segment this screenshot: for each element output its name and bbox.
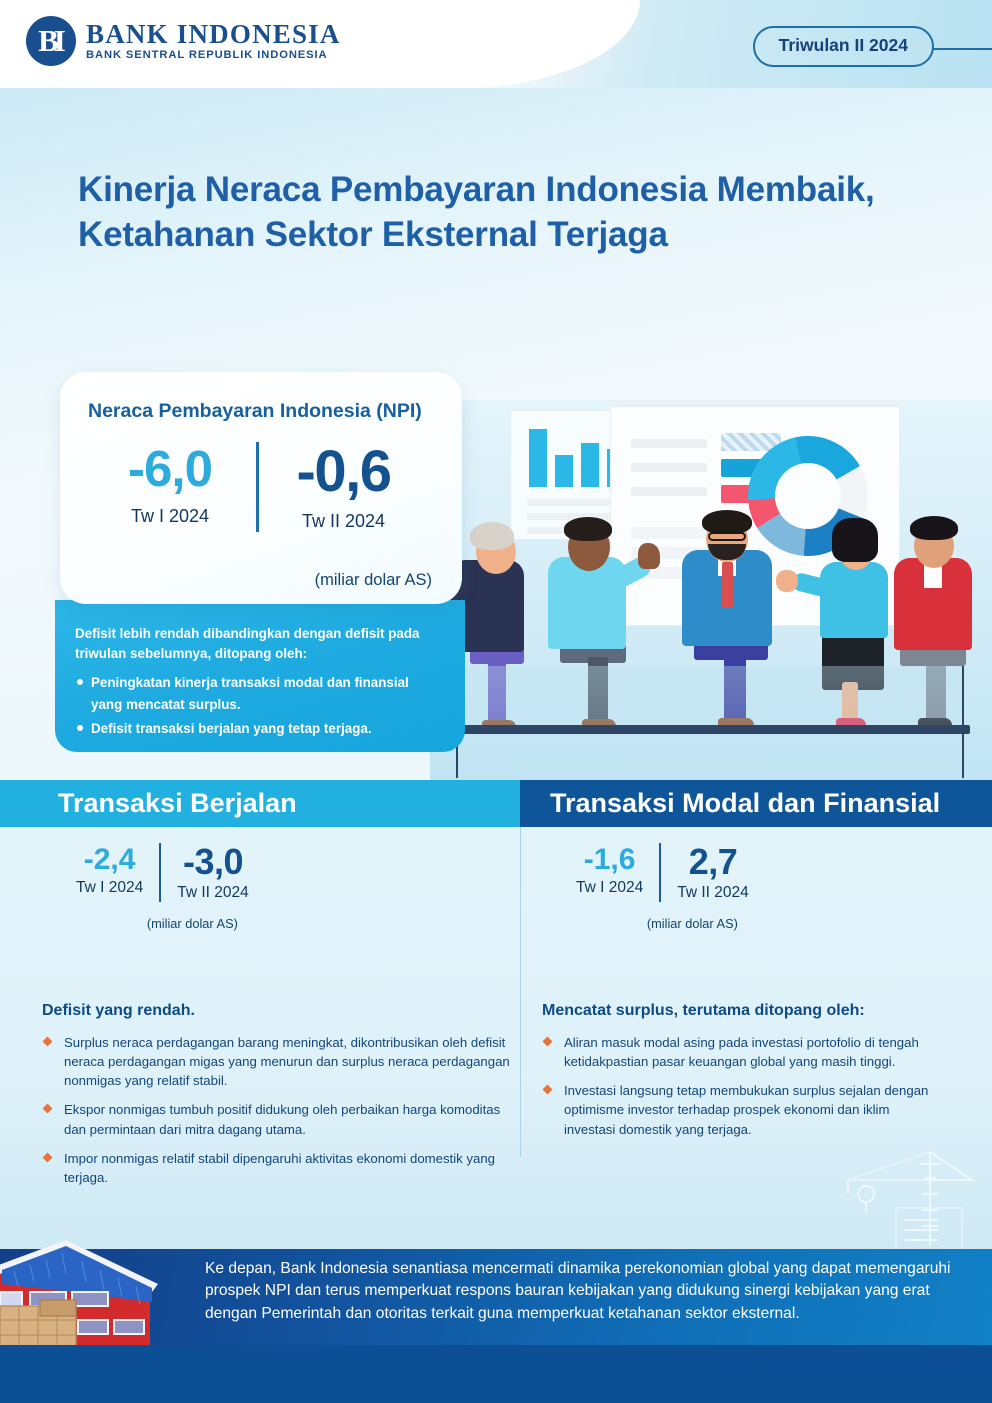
- stat-previous-value: -1,6: [576, 843, 643, 876]
- stat-current-value: 2,7: [677, 843, 749, 881]
- person-2-hair: [564, 517, 612, 541]
- board-row-line: [631, 487, 707, 496]
- board-row-line: [631, 463, 707, 472]
- column-divider: [520, 827, 521, 1157]
- section-heading-label: Transaksi Berjalan: [58, 788, 297, 819]
- person-3-glasses: [708, 532, 746, 541]
- body-transaksi-modal-finansial: Mencatat surplus, terutama ditopang oleh…: [542, 1002, 942, 1149]
- cardboard-boxes: [0, 1300, 76, 1350]
- poster-bar-1: [529, 429, 547, 487]
- stat-current-value: -3,0: [177, 843, 249, 881]
- npi-current-label: Tw II 2024: [259, 511, 428, 532]
- board-row-line: [631, 439, 707, 448]
- stat-current-label: Tw II 2024: [677, 884, 749, 902]
- stat-unit-label: (miliar dolar AS): [620, 916, 765, 931]
- list-item: Surplus neraca perdagangan barang mening…: [42, 1033, 512, 1090]
- body-bullet-list: Surplus neraca perdagangan barang mening…: [42, 1033, 512, 1187]
- page-title: Kinerja Neraca Pembayaran Indonesia Memb…: [78, 168, 928, 258]
- npi-values-row: -6,0 Tw I 2024 -0,6 Tw II 2024: [84, 442, 444, 532]
- stat-previous-quarter: -1,6 Tw I 2024: [560, 843, 659, 902]
- bank-indonesia-logo: BI BANK INDONESIA BANK SENTRAL REPUBLIK …: [26, 16, 341, 66]
- stat-unit-label: (miliar dolar AS): [120, 916, 265, 931]
- poster-bar-2: [555, 455, 573, 487]
- list-item: Peningkatan kinerja transaksi modal dan …: [75, 672, 441, 715]
- stat-previous-quarter: -2,4 Tw I 2024: [60, 843, 159, 902]
- section-header-transaksi-berjalan: Transaksi Berjalan: [0, 780, 520, 827]
- body-heading: Defisit yang rendah.: [42, 1002, 512, 1020]
- person-3-tie: [722, 562, 733, 608]
- stat-values-row: -1,6 Tw I 2024 2,7 Tw II 2024: [560, 843, 765, 902]
- stat-current-quarter: -3,0 Tw II 2024: [159, 843, 265, 902]
- infographic-page: BI BANK INDONESIA BANK SENTRAL REPUBLIK …: [0, 0, 992, 1403]
- outlook-banner-text: Ke depan, Bank Indonesia senantiasa menc…: [205, 1258, 975, 1325]
- npi-previous-quarter: -6,0 Tw I 2024: [84, 442, 256, 532]
- stats-transaksi-berjalan: -2,4 Tw I 2024 -3,0 Tw II 2024 (miliar d…: [60, 843, 500, 953]
- person-1-hair: [470, 522, 514, 550]
- person-1-arm: [500, 576, 522, 628]
- npi-summary-card: Neraca Pembayaran Indonesia (NPI) -6,0 T…: [60, 372, 462, 604]
- section-heading-label: Transaksi Modal dan Finansial: [550, 788, 940, 819]
- list-item: Aliran masuk modal asing pada investasi …: [542, 1033, 942, 1071]
- person-3-hair: [702, 510, 752, 534]
- glass-table-top: [450, 725, 970, 734]
- construction-crane-icon: [812, 1138, 982, 1258]
- stat-current-quarter: 2,7 Tw II 2024: [659, 843, 765, 902]
- person-5-hair: [910, 516, 958, 540]
- npi-card-title: Neraca Pembayaran Indonesia (NPI): [88, 400, 422, 423]
- npi-previous-value: -6,0: [84, 442, 256, 496]
- body-heading: Mencatat surplus, terutama ditopang oleh…: [542, 1002, 942, 1020]
- npi-explanation-lead: Defisit lebih rendah dibandingkan dengan…: [75, 624, 441, 663]
- body-transaksi-berjalan: Defisit yang rendah. Surplus neraca perd…: [42, 1002, 512, 1197]
- stat-previous-label: Tw I 2024: [576, 879, 643, 897]
- person-4-hair: [832, 518, 878, 562]
- npi-current-quarter: -0,6 Tw II 2024: [256, 442, 428, 532]
- person-4-torso: [820, 562, 888, 638]
- stat-values-row: -2,4 Tw I 2024 -3,0 Tw II 2024: [60, 843, 265, 902]
- page-header: BI BANK INDONESIA BANK SENTRAL REPUBLIK …: [0, 0, 992, 88]
- section-header-transaksi-modal-finansial: Transaksi Modal dan Finansial: [520, 780, 992, 827]
- person-4-hand: [776, 570, 798, 592]
- badge-connector-line: [932, 48, 992, 50]
- list-item: Impor nonmigas relatif stabil dipengaruh…: [42, 1149, 512, 1187]
- bi-logo-mark: BI: [26, 16, 76, 66]
- list-item: Investasi langsung tetap membukukan surp…: [542, 1081, 942, 1138]
- list-item: Defisit transaksi berjalan yang tetap te…: [75, 718, 441, 740]
- npi-current-value: -0,6: [259, 442, 428, 501]
- person-2-hand: [638, 543, 660, 569]
- quarter-badge: Triwulan II 2024: [753, 26, 934, 67]
- stat-previous-value: -2,4: [76, 843, 143, 876]
- body-bullet-list: Aliran masuk modal asing pada investasi …: [542, 1033, 942, 1139]
- npi-explanation-box: Defisit lebih rendah dibandingkan dengan…: [55, 600, 465, 752]
- glass-table-front: [456, 666, 964, 778]
- logo-name: BANK INDONESIA: [86, 20, 341, 48]
- stats-transaksi-modal-finansial: -1,6 Tw I 2024 2,7 Tw II 2024 (miliar do…: [560, 843, 992, 953]
- meeting-illustration: [430, 400, 992, 790]
- social-footer: [0, 1345, 992, 1403]
- logo-subtitle: BANK SENTRAL REPUBLIK INDONESIA: [86, 48, 341, 63]
- npi-unit-label: (miliar dolar AS): [315, 571, 432, 590]
- poster-bar-3: [581, 443, 599, 487]
- warehouse-illustration: [0, 1240, 205, 1350]
- npi-explanation-bullets: Peningkatan kinerja transaksi modal dan …: [75, 672, 441, 739]
- stat-current-label: Tw II 2024: [177, 884, 249, 902]
- stat-previous-label: Tw I 2024: [76, 879, 143, 897]
- list-item: Ekspor nonmigas tumbuh positif didukung …: [42, 1100, 512, 1138]
- npi-previous-label: Tw I 2024: [84, 506, 256, 527]
